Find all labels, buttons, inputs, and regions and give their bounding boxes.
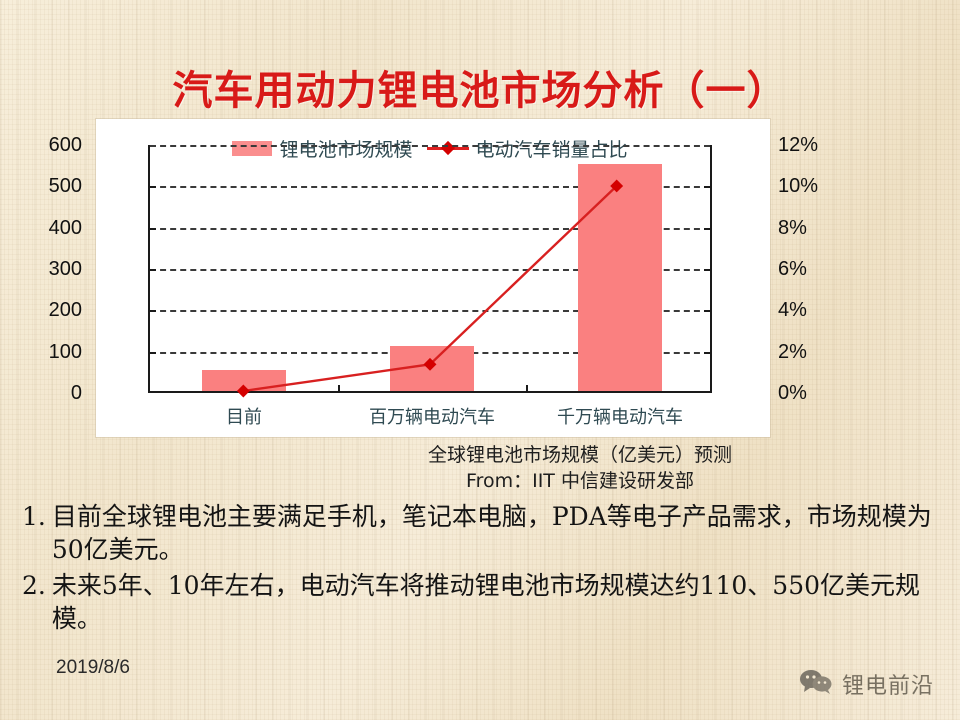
list-item-text: 未来5年、10年左右，电动汽车将推动锂电池市场规模达约110、550亿美元规模。 [52,569,940,636]
watermark-label: 锂电前沿 [842,668,934,700]
list-item-number: 1. [22,500,46,533]
y-axis-label: 400 [22,217,82,240]
line-marker [237,385,250,398]
y-axis-label: 500 [22,175,82,198]
line-series [150,145,710,391]
y2-axis-label: 2% [778,341,848,364]
plot-area: 6005004003002001000 12%10%8%6%4%2%0% 目前百… [148,145,712,393]
y2-axis-label: 0% [778,382,848,405]
list-item-text: 目前全球锂电池主要满足手机，笔记本电脑，PDA等电子产品需求，市场规模为50亿美… [52,500,940,567]
y2-axis-label: 6% [778,258,848,281]
page-title: 汽车用动力锂电池市场分析（一） [0,58,960,116]
watermark: 锂电前沿 [799,668,934,700]
y-axis-label: 100 [22,341,82,364]
chart-panel: 锂电池市场规模 电动汽车销量占比 6005004003002001000 12%… [96,119,770,437]
y2-axis-label: 10% [778,175,848,198]
y2-axis-label: 4% [778,299,848,322]
list-item-number: 2. [22,569,46,602]
x-axis-label: 千万辆电动汽车 [557,403,683,429]
caption-title: 全球锂电池市场规模（亿美元）预测 [300,443,860,469]
footer-date: 2019/8/6 [56,657,130,679]
x-axis-label: 百万辆电动汽车 [369,403,495,429]
list-item: 2.未来5年、10年左右，电动汽车将推动锂电池市场规模达约110、550亿美元规… [22,569,940,636]
wechat-icon [799,669,833,700]
y2-axis-label: 12% [778,134,848,157]
y2-axis-label: 8% [778,217,848,240]
y-axis-label: 200 [22,299,82,322]
y-axis-label: 0 [22,382,82,405]
y-axis-label: 300 [22,258,82,281]
chart-caption: 全球锂电池市场规模（亿美元）预测 From：IIT 中信建设研发部 [300,443,860,494]
x-axis-label: 目前 [226,403,262,429]
list-item: 1.目前全球锂电池主要满足手机，笔记本电脑，PDA等电子产品需求，市场规模为50… [22,500,940,567]
slide-canvas: 汽车用动力锂电池市场分析（一） 锂电池市场规模 电动汽车销量占比 6005004… [0,0,960,720]
caption-source: From：IIT 中信建设研发部 [300,469,860,495]
y-axis-label: 600 [22,134,82,157]
body-list: 1.目前全球锂电池主要满足手机，笔记本电脑，PDA等电子产品需求，市场规模为50… [22,500,940,637]
